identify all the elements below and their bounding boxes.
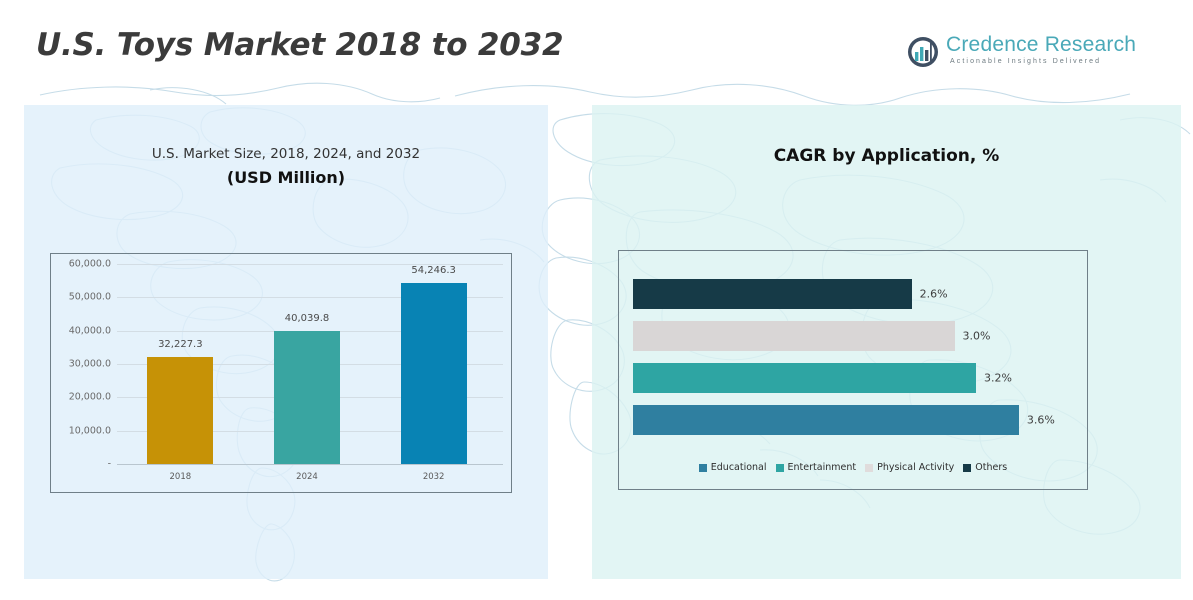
- bar-value-label: 3.0%: [963, 330, 991, 343]
- legend-item-entertainment[interactable]: Entertainment: [776, 462, 857, 473]
- legend-swatch-icon: [776, 464, 784, 472]
- cagr-bar-chart: 2.6%3.0%3.2%3.6% EducationalEntertainmen…: [618, 250, 1088, 490]
- y-axis-tick-label: 20,000.0: [69, 392, 111, 403]
- legend-label: Others: [975, 462, 1007, 473]
- logo-tagline: Actionable Insights Delivered: [950, 58, 1101, 65]
- bar-2032[interactable]: [401, 283, 467, 464]
- logo-word-credence: Credence: [946, 33, 1039, 56]
- legend-label: Educational: [711, 462, 767, 473]
- horizontal-bar-plot-area: 2.6%3.0%3.2%3.6%: [619, 251, 1087, 489]
- left-chart-heading: (USD Million): [24, 168, 548, 187]
- cagr-legend: EducationalEntertainmentPhysical Activit…: [619, 462, 1087, 473]
- legend-label: Physical Activity: [877, 462, 954, 473]
- bar-educational[interactable]: [633, 405, 1019, 435]
- vertical-bar-plot-area: 60,000.050,000.040,000.030,000.020,000.0…: [117, 264, 503, 464]
- x-axis-tick-label: 2032: [423, 472, 445, 482]
- y-axis-tick-label: 60,000.0: [69, 259, 111, 270]
- legend-item-physical-activity[interactable]: Physical Activity: [865, 462, 954, 473]
- bar-physical-activity[interactable]: [633, 321, 955, 351]
- infographic-root: U.S. Toys Market 2018 to 2032 Credence R…: [0, 0, 1193, 600]
- bar-value-label: 3.2%: [984, 372, 1012, 385]
- legend-swatch-icon: [865, 464, 873, 472]
- legend-item-educational[interactable]: Educational: [699, 462, 767, 473]
- legend-swatch-icon: [699, 464, 707, 472]
- bar-others[interactable]: [633, 279, 912, 309]
- bar-2024[interactable]: [274, 331, 340, 464]
- bar-2018[interactable]: [147, 357, 213, 464]
- bar-value-label: 2.6%: [920, 288, 948, 301]
- bar-value-label: 3.6%: [1027, 414, 1055, 427]
- market-size-bar-chart: 60,000.050,000.040,000.030,000.020,000.0…: [50, 253, 512, 493]
- y-axis-tick-label: 40,000.0: [69, 325, 111, 336]
- right-chart-heading: CAGR by Application, %: [592, 146, 1181, 166]
- legend-label: Entertainment: [788, 462, 857, 473]
- logo-word-research: Research: [1039, 33, 1137, 56]
- legend-swatch-icon: [963, 464, 971, 472]
- y-axis-tick-label: 30,000.0: [69, 359, 111, 370]
- legend-item-others[interactable]: Others: [963, 462, 1007, 473]
- bar-value-label: 32,227.3: [158, 339, 203, 350]
- bar-value-label: 54,246.3: [411, 265, 456, 276]
- left-chart-subtitle: U.S. Market Size, 2018, 2024, and 2032: [24, 146, 548, 162]
- logo-wordmark: Credence Research: [946, 33, 1136, 57]
- x-axis-tick-label: 2018: [170, 472, 192, 482]
- brand-logo: Credence Research Actionable Insights De…: [906, 33, 1096, 75]
- y-axis-tick-label: -: [108, 459, 111, 470]
- bar-value-label: 40,039.8: [285, 313, 330, 324]
- page-title: U.S. Toys Market 2018 to 2032: [36, 27, 563, 63]
- credence-logo-icon: [906, 35, 940, 69]
- x-axis-line: [117, 464, 503, 465]
- bar-entertainment[interactable]: [633, 363, 976, 393]
- y-axis-tick-label: 10,000.0: [69, 425, 111, 436]
- x-axis-tick-label: 2024: [296, 472, 318, 482]
- y-axis-tick-label: 50,000.0: [69, 292, 111, 303]
